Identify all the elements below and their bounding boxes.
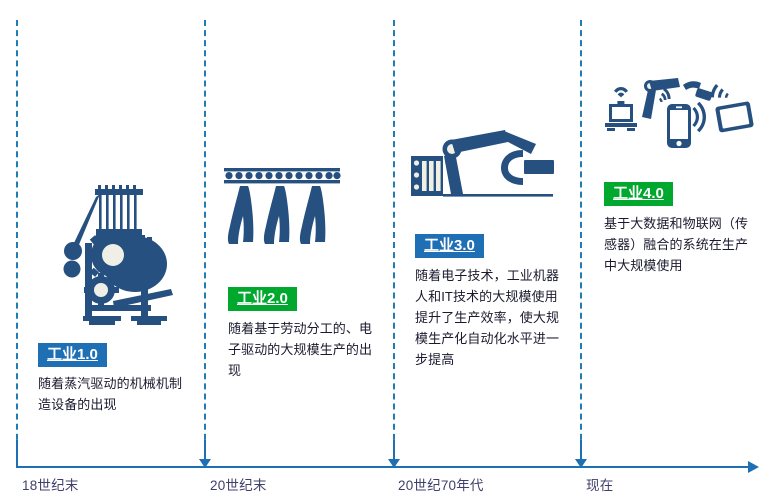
axis-label-3: 20世纪70年代 (398, 474, 484, 494)
axis-label-4: 现在 (586, 474, 613, 494)
stage-divider-3 (393, 20, 395, 460)
tick-arrow-down-icon (575, 459, 587, 468)
industrial-robot-arm-icon (411, 128, 571, 210)
stage-badge-2: 工业2.0 (228, 287, 297, 311)
axis-end-arrow-icon (748, 461, 759, 473)
axis-baseline (16, 466, 750, 468)
stage-badge-3: 工业3.0 (415, 234, 484, 258)
tick-stem (204, 440, 206, 460)
tick-arrow-down-icon (388, 459, 400, 468)
stage-divider-2 (204, 20, 206, 460)
assembly-line-garments-icon (224, 168, 342, 258)
tick-stem (580, 440, 582, 460)
stage-description-4: 基于大数据和物联网（传感器）融合的系统在生产中大规模使用 (604, 213, 752, 276)
stage-description-2: 随着基于劳动分工的、电子驱动的大规模生产的出现 (228, 318, 380, 381)
tick-stem (393, 440, 395, 460)
stage-badge-4: 工业4.0 (604, 182, 673, 206)
stage-divider-4 (580, 20, 582, 460)
stage-divider-1 (16, 20, 18, 460)
axis-label-1: 18世纪末 (22, 474, 79, 494)
tick-arrow-down-icon (199, 459, 211, 468)
iot-connected-devices-icon (604, 78, 752, 150)
stage-description-1: 随着蒸汽驱动的机械机制造设备的出现 (38, 373, 186, 415)
steam-loom-machine-icon (55, 185, 175, 330)
axis-start-cap (16, 440, 18, 467)
stage-description-3: 随着电子技术，工业机器人和IT技术的大规模使用提升了生产效率，使大规模生产化自动… (415, 265, 567, 370)
industry-evolution-timeline-graphic: 工业1.0 随着蒸汽驱动的机械机制造设备的出现 (0, 0, 762, 501)
axis-label-2: 20世纪末 (210, 474, 267, 494)
stage-badge-1: 工业1.0 (38, 343, 107, 367)
